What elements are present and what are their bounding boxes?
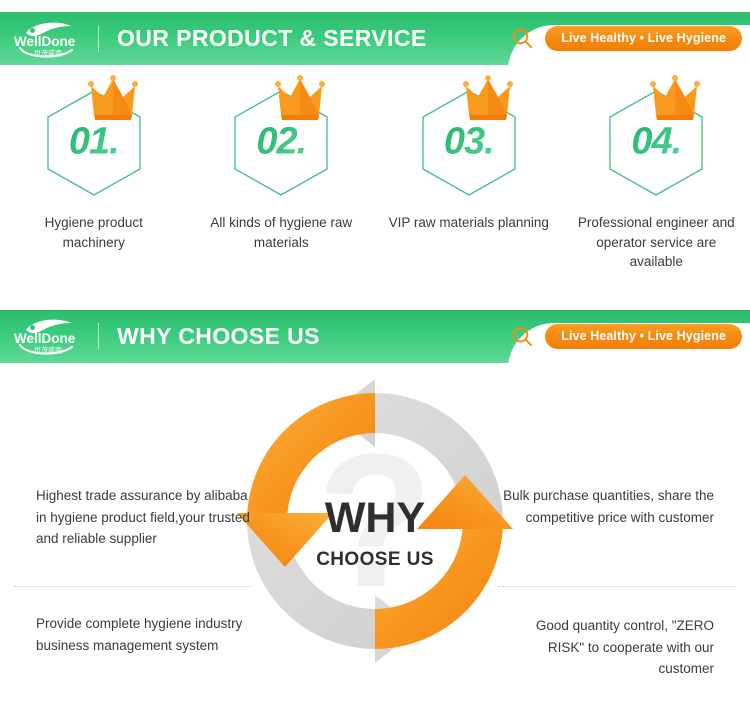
feature-item-2[interactable]: 02. All kinds of hygiene raw materials — [188, 87, 376, 272]
welldone-logo[interactable]: WellDone 世茂威南 — [12, 17, 84, 61]
feature-item-4[interactable]: 04. Professional engineer and operator s… — [563, 87, 750, 272]
feature-label-4: Professional engineer and operator servi… — [563, 213, 750, 272]
crown-icon — [650, 75, 702, 123]
header-bar-why: WellDone 世茂威南 WHY CHOOSE US Live Healthy… — [0, 310, 750, 363]
header-bar-product: WellDone 世茂威南 OUR PRODUCT & SERVICE Live… — [0, 12, 750, 65]
hexagon-number-2: 02. — [229, 121, 333, 164]
why-point-top-right: Bulk purchase quantities, share the comp… — [499, 485, 714, 529]
section-gap — [0, 272, 750, 310]
feature-item-3[interactable]: 03. VIP raw materials planning — [375, 87, 563, 272]
section-our-product-service: WellDone 世茂威南 OUR PRODUCT & SERVICE Live… — [0, 12, 750, 272]
hexagon-1: 01. — [42, 87, 146, 199]
header-divider — [98, 26, 99, 52]
svg-text:WellDone: WellDone — [14, 331, 76, 346]
hexagon-4: 04. — [604, 87, 708, 199]
why-point-bottom-left: Provide complete hygiene industry busine… — [36, 613, 251, 657]
divider-dotted-right — [498, 586, 736, 587]
top-spacer — [0, 0, 750, 12]
why-point-bottom-right: Good quantity control, "ZERO RISK" to co… — [499, 615, 714, 681]
divider-dotted-left — [14, 586, 252, 587]
hexagon-number-3: 03. — [417, 121, 521, 164]
header-right-why: Live Healthy • Live Hygiene — [511, 310, 742, 363]
feature-list: 01. Hygiene product machinery — [0, 65, 750, 272]
hexagon-3: 03. — [417, 87, 521, 199]
feature-item-1[interactable]: 01. Hygiene product machinery — [0, 87, 188, 272]
hexagon-number-4: 04. — [604, 121, 708, 164]
hexagon-number-1: 01. — [42, 121, 146, 164]
feature-label-1: Hygiene product machinery — [0, 213, 188, 252]
search-icon[interactable] — [511, 325, 534, 348]
why-cycle-diagram: ? WHY CHOOSE — [225, 371, 525, 671]
crown-icon — [275, 75, 327, 123]
feature-label-2: All kinds of hygiene raw materials — [188, 213, 376, 252]
svg-text:WellDone: WellDone — [14, 34, 76, 49]
welldone-logo[interactable]: WellDone 世茂威南 — [12, 314, 84, 358]
why-point-top-left: Highest trade assurance by alibaba in hy… — [36, 485, 251, 551]
header-divider — [98, 323, 99, 349]
page-title-product: OUR PRODUCT & SERVICE — [117, 25, 427, 52]
hexagon-2: 02. — [229, 87, 333, 199]
tagline-badge-why[interactable]: Live Healthy • Live Hygiene — [545, 324, 742, 349]
tagline-badge-product[interactable]: Live Healthy • Live Hygiene — [545, 26, 742, 51]
section-why-choose-us: WellDone 世茂威南 WHY CHOOSE US Live Healthy… — [0, 310, 750, 693]
search-icon[interactable] — [511, 27, 534, 50]
why-choose-us-body: ? WHY CHOOSE — [0, 363, 750, 693]
crown-icon — [463, 75, 515, 123]
feature-label-3: VIP raw materials planning — [375, 213, 563, 233]
header-right-product: Live Healthy • Live Hygiene — [511, 12, 742, 65]
crown-icon — [88, 75, 140, 123]
page-title-why: WHY CHOOSE US — [117, 323, 320, 350]
